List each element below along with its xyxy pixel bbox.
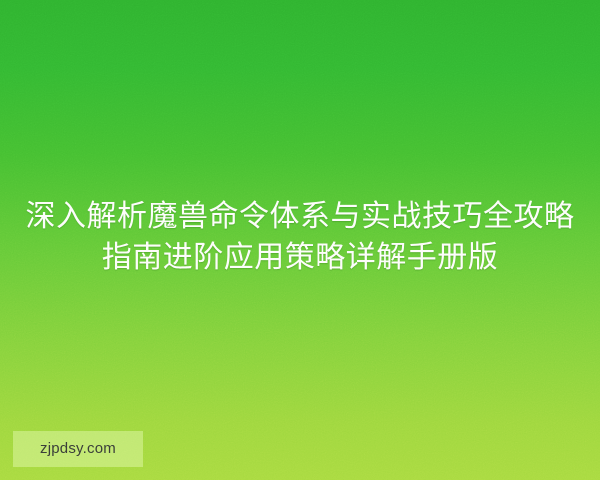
page-title: 深入解析魔兽命令体系与实战技巧全攻略 指南进阶应用策略详解手册版 [0,196,600,278]
title-card: 深入解析魔兽命令体系与实战技巧全攻略 指南进阶应用策略详解手册版 zjpdsy.… [0,0,600,480]
title-line-2: 指南进阶应用策略详解手册版 [14,237,586,278]
title-line-1: 深入解析魔兽命令体系与实战技巧全攻略 [14,196,586,237]
watermark-badge: zjpdsy.com [13,431,143,467]
watermark-label: zjpdsy.com [40,440,116,458]
